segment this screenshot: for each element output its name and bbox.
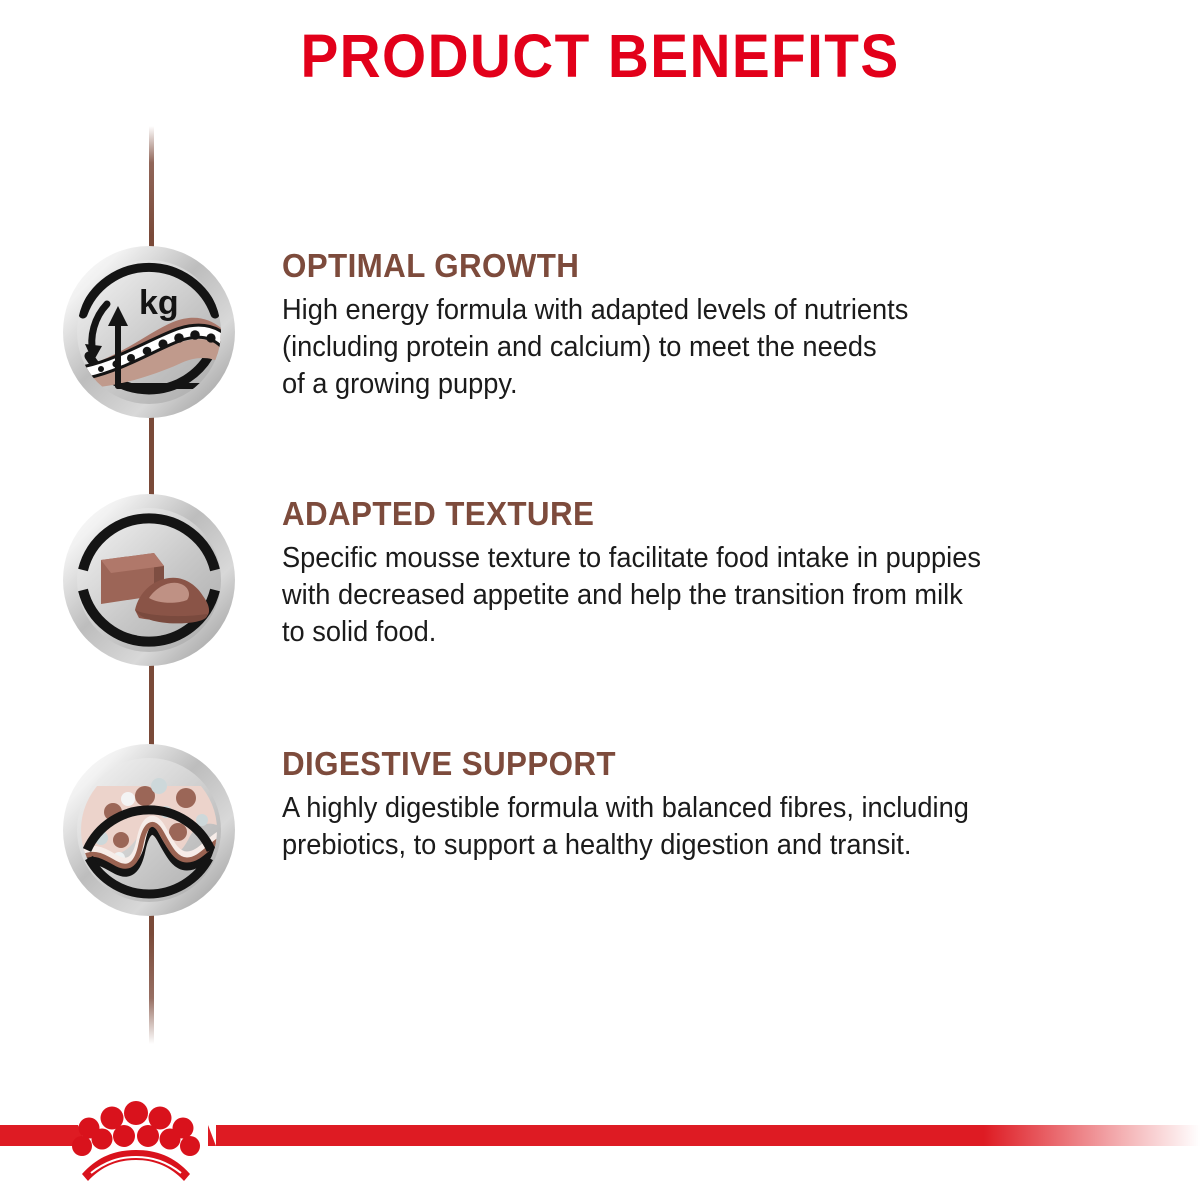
benefit-body: High energy formula with adapted levels … xyxy=(282,292,1142,403)
footer-rule-left xyxy=(0,1125,78,1146)
benefit-text-block: DIGESTIVE SUPPORT A highly digestible fo… xyxy=(282,746,1182,864)
digestive-support-icon xyxy=(61,742,237,918)
benefit-body: A highly digestible formula with balance… xyxy=(282,790,1142,864)
benefit-heading: OPTIMAL GROWTH xyxy=(282,248,1137,285)
mousse-texture-icon xyxy=(61,492,237,668)
benefit-text-block: OPTIMAL GROWTH High energy formula with … xyxy=(282,248,1182,403)
weight-growth-icon: kg xyxy=(61,244,237,420)
page-title: PRODUCT BENEFITS xyxy=(42,24,1158,88)
royal-canin-crown-logo xyxy=(72,1094,200,1184)
benefit-text-block: ADAPTED TEXTURE Specific mousse texture … xyxy=(282,496,1182,651)
benefit-body: Specific mousse texture to facilitate fo… xyxy=(282,540,1142,651)
benefit-heading: ADAPTED TEXTURE xyxy=(282,496,1137,533)
footer xyxy=(0,1080,1200,1200)
footer-rule-right xyxy=(216,1125,1200,1146)
benefit-heading: DIGESTIVE SUPPORT xyxy=(282,746,1137,783)
kg-label: kg xyxy=(139,284,179,322)
